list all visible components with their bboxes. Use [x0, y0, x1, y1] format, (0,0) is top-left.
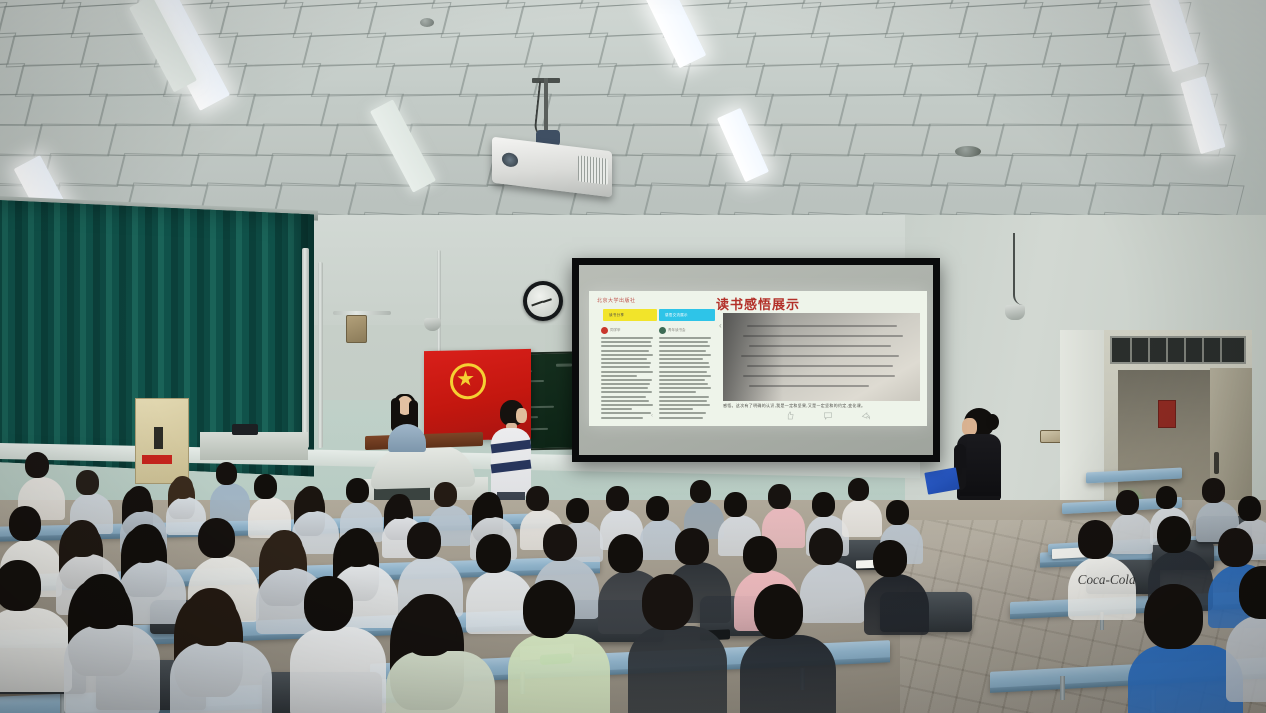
student-head [566, 498, 588, 523]
student-head [401, 594, 457, 656]
ceiling-tile [930, 153, 1014, 187]
ceiling-tile [782, 153, 866, 187]
ceiling-tile [107, 124, 191, 157]
standing-student-face [516, 408, 527, 423]
student-head [434, 482, 456, 507]
clock-minute-hand [531, 301, 543, 307]
seated-student [290, 576, 389, 713]
student-head [675, 528, 709, 565]
ceiling-tile [237, 63, 321, 97]
ceiling-tile [764, 94, 848, 127]
student-torso [64, 625, 160, 713]
ceiling-tile [1042, 33, 1127, 68]
ceiling-tile [995, 124, 1079, 157]
ceiling-tile [1004, 153, 1088, 187]
student-head [1116, 490, 1138, 515]
ceiling-tile [1152, 153, 1236, 187]
ceiling-tile [681, 63, 765, 97]
ceiling-tile [894, 33, 979, 68]
seated-student [170, 588, 276, 713]
student-head [1238, 496, 1260, 521]
equipment-box [232, 424, 258, 435]
wall-clock [523, 281, 563, 321]
ceiling-tile [394, 94, 478, 127]
ceiling-tile [376, 33, 461, 68]
student-head [1078, 520, 1113, 559]
host-bun-icon [986, 414, 999, 430]
ceiling-tile [33, 124, 117, 157]
ceiling-tile [246, 94, 330, 127]
seated-student [1226, 566, 1266, 704]
student-torso [290, 627, 386, 713]
ceiling-tile [24, 94, 108, 127]
wall-pipe [437, 250, 441, 360]
ceiling-tile [829, 63, 913, 97]
projector-body [492, 137, 612, 198]
ceiling-tile [746, 33, 831, 68]
projection-surface: 北京大学出版社 读书感悟展示 读书分享 感悟交流展示 ‹ ‹ 同学甲 [579, 265, 933, 455]
wall-pipe [318, 262, 323, 448]
seated-student [210, 462, 252, 522]
student-torso [210, 483, 250, 521]
handwritten-reflection-photo [723, 313, 920, 401]
student-head [9, 506, 41, 541]
student-head [606, 486, 628, 511]
student-head [848, 478, 869, 501]
ceiling-tile [912, 94, 996, 127]
ceiling-tile [773, 124, 857, 157]
student-head [1218, 528, 1253, 567]
slide-caption: 感悟。这次有了明确的认识,我是一定和坚果,又是一定坚和的约定,变化课。 [723, 403, 865, 409]
student-head [0, 560, 41, 611]
ceiling-tile [116, 153, 200, 187]
student-head [76, 470, 98, 495]
ceiling-tile [1069, 124, 1153, 157]
ceiling-tile [977, 63, 1061, 97]
student-head [477, 492, 501, 518]
seated-student [386, 594, 498, 713]
student-torso [170, 642, 272, 713]
highlight-cyan: 感悟交流展示 [659, 309, 715, 321]
ceiling-tile [903, 63, 987, 97]
student-head [127, 486, 151, 512]
highlight-yellow-label: 读书分享 [609, 313, 624, 318]
student-torso [386, 651, 495, 713]
ceiling-tile [968, 33, 1053, 68]
smoke-detector-icon [420, 18, 434, 27]
student-torso [864, 574, 929, 635]
student-torso [0, 608, 72, 692]
student-head [266, 530, 303, 570]
presentation-slide: 北京大学出版社 读书感悟展示 读书分享 感悟交流展示 ‹ ‹ 同学甲 [589, 291, 927, 426]
clock-face [527, 285, 559, 317]
seated-student [740, 584, 839, 713]
student-head [754, 584, 804, 639]
ceiling-tile [755, 63, 839, 97]
ceiling-projector [492, 78, 620, 196]
post-body-text [601, 337, 653, 421]
side-counter [200, 432, 308, 460]
student-torso [508, 634, 610, 713]
student-head [25, 452, 49, 478]
student-head [128, 524, 163, 563]
ceiling-tile [302, 33, 387, 68]
ceiling-tile [450, 33, 535, 68]
seated-student [628, 574, 730, 713]
student-head [690, 480, 711, 503]
share-icon[interactable] [861, 411, 871, 420]
wall-speaker [1005, 305, 1025, 320]
student-head [646, 496, 668, 521]
post-author: 青年读书会 [668, 328, 686, 333]
student-head [543, 524, 577, 561]
avatar [601, 327, 608, 334]
electrical-box [346, 315, 367, 343]
speaker-cable [1013, 233, 1023, 305]
ceiling-tile [847, 124, 931, 157]
student-torso [740, 635, 836, 713]
ceiling-tile [98, 94, 182, 127]
like-icon[interactable] [785, 411, 795, 420]
ceiling-tile [1051, 63, 1135, 97]
student-torso [628, 626, 727, 713]
highlight-cyan-label: 感悟交流展示 [665, 313, 688, 318]
ceiling-tile [856, 153, 940, 187]
student-head [346, 478, 368, 503]
ceiling-tile [264, 153, 348, 187]
student-head [1144, 584, 1203, 649]
ceiling-tile [255, 124, 339, 157]
student-torso [1068, 556, 1136, 620]
student-head [299, 486, 323, 512]
ceiling-tile [311, 63, 395, 97]
desk-leg [1060, 676, 1065, 700]
door-handle[interactable] [1214, 452, 1219, 474]
student-head [476, 534, 511, 573]
ceiling-tile [181, 124, 265, 157]
student-head [216, 462, 237, 485]
student-head [254, 474, 276, 499]
avatar [659, 327, 666, 334]
student-head [407, 522, 441, 559]
student-head [743, 536, 777, 573]
student-head [304, 576, 354, 631]
ceiling-tile [634, 153, 718, 187]
student-head [78, 574, 128, 629]
student-head [768, 484, 790, 509]
ceiling-tile [15, 63, 99, 97]
wall-pipe [302, 248, 309, 448]
student-head [1157, 516, 1191, 553]
transom-window [1110, 336, 1246, 364]
slide-action-icons [785, 411, 871, 420]
shirt-stripe [491, 440, 532, 454]
red-wall-sign [1158, 400, 1176, 428]
student-head [1239, 566, 1266, 619]
student-head [1202, 478, 1224, 503]
student-head [886, 500, 908, 525]
student-head [642, 574, 693, 630]
cabinet-latch-icon [154, 427, 163, 449]
student-head [198, 518, 235, 558]
ceiling-tile [820, 33, 905, 68]
ceiling-tile [190, 153, 274, 187]
slide-logo: 北京大学出版社 [597, 297, 641, 305]
post-author: 同学甲 [610, 328, 621, 333]
seated-student [64, 574, 163, 713]
blue-folder [924, 467, 959, 494]
ceiling-tile [616, 94, 700, 127]
student-head [608, 534, 643, 573]
student-head [185, 588, 238, 646]
student-head [65, 520, 99, 557]
projector-lens-icon [502, 152, 518, 168]
projection-screen[interactable]: 北京大学出版社 读书感悟展示 读书分享 感悟交流展示 ‹ ‹ 同学甲 [572, 258, 940, 462]
seated-student [508, 580, 614, 713]
projector-vent-grill [578, 155, 608, 185]
student-head [812, 492, 834, 517]
ceiling-vent-icon [955, 146, 981, 157]
red-warning-label [142, 455, 172, 464]
student-head [340, 528, 375, 567]
student-torso [1226, 615, 1266, 702]
ceiling-tile [625, 124, 709, 157]
student-head [526, 486, 548, 511]
student-head [809, 528, 843, 565]
presenter-at-podium [388, 392, 428, 450]
ceiling-tile [986, 94, 1070, 127]
comment-icon[interactable] [823, 411, 833, 420]
coca-cola-tee-text: Coca-Cola [1078, 572, 1136, 588]
ceiling-tile [1060, 94, 1144, 127]
ceiling-tile [385, 63, 469, 97]
wall-cabinet[interactable] [135, 398, 189, 484]
student-head [873, 540, 907, 577]
classroom-photo: 北京大学出版社 读书感悟展示 读书分享 感悟交流展示 ‹ ‹ 同学甲 [0, 0, 1266, 713]
student-head [523, 580, 576, 638]
ceiling-tile [524, 33, 609, 68]
student-head [1156, 486, 1177, 509]
student-head [172, 476, 193, 499]
student-head [388, 494, 410, 519]
presenter-torso [388, 424, 426, 452]
ceiling-tile [228, 33, 313, 68]
shirt-stripe [491, 460, 532, 474]
post-body-text [659, 337, 711, 421]
ceiling-tile [6, 33, 91, 68]
student-head [724, 492, 746, 517]
highlight-yellow: 读书分享 [603, 309, 657, 321]
clock-hour-hand [543, 298, 552, 303]
seated-student [864, 540, 931, 637]
ceiling-tile [838, 94, 922, 127]
ceiling-tile [1078, 153, 1162, 187]
chevron-left-icon[interactable]: ‹ [719, 321, 722, 330]
